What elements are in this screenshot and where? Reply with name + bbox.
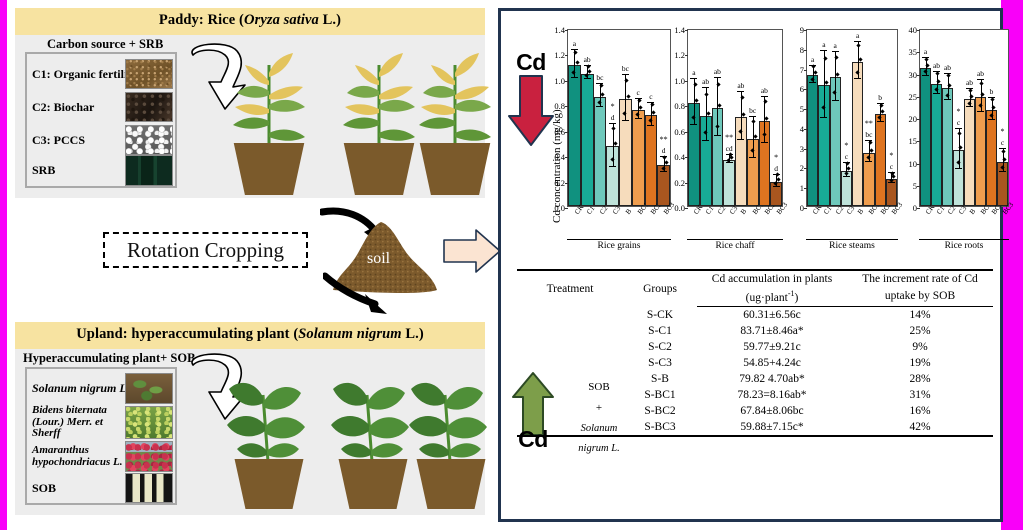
header-treatment: Treatment xyxy=(517,270,623,306)
replicate-point xyxy=(945,93,949,97)
bar-B[interactable]: bcB xyxy=(619,99,632,206)
replicate-point xyxy=(705,92,709,96)
source-row-c3[interactable]: C3: PCCS xyxy=(27,125,175,155)
replicate-point xyxy=(958,131,962,135)
results-panel: Cd Cd SOB + Solanum nigrum L. Cd concent… xyxy=(498,8,1003,522)
error-cap-upper xyxy=(622,74,629,75)
bar-C2[interactable]: aC2 xyxy=(830,77,841,206)
sob-thumb xyxy=(125,473,173,503)
header-increment-line1: The increment rate of Cd xyxy=(847,270,993,287)
bar-BC1[interactable]: abBC1 xyxy=(975,97,986,206)
significance-letter: c xyxy=(957,118,960,127)
bar-BC3[interactable]: d*BC3 xyxy=(770,182,782,206)
significance-letter: bc xyxy=(749,106,756,115)
cell-group: S-C3 xyxy=(623,355,697,371)
replicate-point xyxy=(821,105,825,109)
significance-letter: c xyxy=(1001,138,1004,147)
source-label-bidens: Bidens biternata (Lour.) Merr. et Sherff xyxy=(27,405,132,440)
error-cap-lower xyxy=(761,142,768,143)
replicate-point xyxy=(612,126,616,130)
header-groups: Groups xyxy=(623,270,697,306)
cell-group: S-C1 xyxy=(623,323,697,339)
error-cap-lower xyxy=(955,168,962,169)
pccs-thumb xyxy=(125,125,173,155)
bar-C2[interactable]: abC2 xyxy=(942,88,953,206)
bar-charts-area: Cd concentration (mg/kg) 0.00.20.40.60.8… xyxy=(501,11,1000,259)
source-label-sob: SOB xyxy=(27,482,56,495)
rotation-cropping-box: Rotation Cropping xyxy=(103,232,308,268)
replicate-point xyxy=(1000,165,1004,169)
error-cap-lower xyxy=(999,171,1006,172)
srb-thumb xyxy=(125,155,173,186)
left-column: Paddy: Rice (Oryza sativa L.) Carbon sou… xyxy=(7,0,495,530)
x-tick-label: B xyxy=(624,207,633,216)
bar-BC3[interactable]: c*BC3 xyxy=(886,179,897,206)
carbon-source-box: C1: Organic fertilizer C2: Biochar C3: P… xyxy=(25,52,177,188)
solanum-plant-3 xyxy=(393,373,509,509)
replicate-point xyxy=(610,157,614,161)
upland-pot-3 xyxy=(409,459,493,509)
replicate-point xyxy=(836,73,840,77)
cell-increment: 9% xyxy=(847,339,993,355)
cell-group: S-BC3 xyxy=(623,419,697,436)
y-tick-label: 0.2 xyxy=(674,178,685,188)
bar-BC2[interactable]: abBC2 xyxy=(759,121,771,206)
cell-increment: 31% xyxy=(847,387,993,403)
y-tick-label: 1.2 xyxy=(554,50,565,60)
y-tick-label: 40 xyxy=(909,25,918,35)
table-header-row: Treatment Groups Cd accumulation in plan… xyxy=(517,270,993,287)
x-tick-label: C1 xyxy=(935,205,946,216)
significance-star: ** xyxy=(660,135,668,144)
significance-letter: ab xyxy=(966,78,973,87)
significance-letter: a xyxy=(822,40,825,49)
error-cap-lower xyxy=(809,82,816,83)
cell-increment: 28% xyxy=(847,371,993,387)
rice-plant-1 xyxy=(211,51,327,195)
y-tick-label: 1.0 xyxy=(554,76,565,86)
cell-accumulation: 60.31±6.56c xyxy=(697,306,847,323)
replicate-point xyxy=(651,110,655,114)
replicate-point xyxy=(765,116,769,120)
bar-BC2[interactable]: bBC2 xyxy=(875,114,886,206)
error-cap-upper xyxy=(977,79,984,80)
replicate-point xyxy=(858,57,862,61)
error-cap-upper xyxy=(832,51,839,52)
significance-letter: ab xyxy=(944,63,951,72)
results-table-wrap: Treatment Groups Cd accumulation in plan… xyxy=(517,269,993,437)
source-label-c2: C2: Biochar xyxy=(27,101,94,114)
replicate-point xyxy=(923,70,927,74)
source-label-solanum: Solanum nigrum L. xyxy=(27,382,130,395)
error-cap-lower xyxy=(702,140,709,141)
y-tick-label: 0.6 xyxy=(674,127,685,137)
y-tick-label: 0.6 xyxy=(554,127,565,137)
replicate-point xyxy=(981,92,985,96)
error-cap-lower xyxy=(854,78,861,79)
replicate-point xyxy=(857,43,861,47)
replicate-point xyxy=(934,87,938,91)
replicate-point xyxy=(636,113,640,117)
replicate-point xyxy=(937,79,941,83)
significance-letter: c xyxy=(649,92,652,101)
cell-group: S-B xyxy=(623,371,697,387)
significance-letter: d xyxy=(611,113,615,122)
replicate-point xyxy=(866,156,870,160)
bar-BC3[interactable]: d**BC3 xyxy=(657,165,670,206)
error-cap-lower xyxy=(944,99,951,100)
replicate-point xyxy=(718,103,722,107)
rotation-cropping-label: Rotation Cropping xyxy=(127,238,284,263)
significance-star: * xyxy=(1001,127,1005,136)
replicate-point xyxy=(575,60,579,64)
y-tick-label: 0.0 xyxy=(674,203,685,213)
y-tick-label: 1.4 xyxy=(554,25,565,35)
significance-letter: c xyxy=(636,88,639,97)
error-cap-upper xyxy=(702,87,709,88)
cd-accumulation-table: Treatment Groups Cd accumulation in plan… xyxy=(517,269,993,437)
error-cap-lower xyxy=(622,120,629,121)
bar-CK[interactable]: aCK xyxy=(807,75,818,206)
error-cap-upper xyxy=(690,78,697,79)
significance-letter: a xyxy=(692,68,695,77)
cell-accumulation: 59.77±9.21c xyxy=(697,339,847,355)
replicate-point xyxy=(813,71,817,75)
error-cap-lower xyxy=(609,166,616,167)
y-tick-label: 15 xyxy=(909,136,918,146)
source-row-solanum[interactable]: Solanum nigrum L. xyxy=(27,373,175,404)
error-cap-lower xyxy=(596,106,603,107)
cell-accumulation: 59.88±7.15c* xyxy=(697,419,847,436)
bar-B[interactable]: aB xyxy=(852,62,863,206)
significance-letter: bc xyxy=(596,73,603,82)
replicate-point xyxy=(970,95,974,99)
table-row: S-CK60.31±6.56c14% xyxy=(517,306,993,323)
cell-group: S-BC2 xyxy=(623,403,697,419)
replicate-point xyxy=(978,104,982,108)
bar-BC2[interactable]: cBC2 xyxy=(645,115,658,206)
x-axis-group-rule xyxy=(806,239,898,240)
x-tick-label: C1 xyxy=(704,205,715,216)
replicate-point xyxy=(967,101,971,105)
soil-out-arrow-icon xyxy=(323,272,393,318)
bar-C3[interactable]: c*C3 xyxy=(841,171,852,206)
replicate-point xyxy=(750,149,754,153)
replicate-point xyxy=(600,92,604,96)
error-cap-upper xyxy=(749,116,756,117)
significance-letter: a xyxy=(573,39,576,48)
upland-title-species: Solanum nigrum xyxy=(298,326,401,342)
header-accumulation-line2: (ug·plant-1) xyxy=(697,287,847,306)
bar-C2[interactable]: bcC2 xyxy=(594,97,607,206)
upland-title-plain: Upland: hyperaccumulating plant ( xyxy=(76,326,298,342)
replicate-point xyxy=(777,177,781,181)
x-axis-group-label: Rice grains xyxy=(567,241,671,251)
y-tick-mark xyxy=(917,208,920,209)
error-cap-lower xyxy=(726,162,733,163)
cell-accumulation: 78.23=8.16ab* xyxy=(697,387,847,403)
source-row-srb[interactable]: SRB xyxy=(27,155,175,186)
graphical-abstract: Paddy: Rice (Oryza sativa L.) Carbon sou… xyxy=(0,0,1023,530)
bar-BC3[interactable]: c*BC3 xyxy=(997,162,1008,207)
transfer-block-arrow-icon xyxy=(442,228,502,274)
error-cap-lower xyxy=(877,121,884,122)
x-tick-label: C1 xyxy=(822,205,833,216)
upland-pot-1 xyxy=(227,459,311,509)
replicate-point xyxy=(637,98,641,102)
replicate-point xyxy=(703,130,707,134)
bars-container: aCKaC1aC2c*C3aBbc**BC1bBC2c*BC3 xyxy=(807,30,897,206)
cell-group: S-C2 xyxy=(623,339,697,355)
x-tick-label: C3 xyxy=(845,205,856,216)
bar-CK[interactable]: aCK xyxy=(568,65,581,206)
cell-accumulation: 79.82 4.70ab* xyxy=(697,371,847,387)
replicate-point xyxy=(623,111,627,115)
y-tick-label: 1.2 xyxy=(674,50,685,60)
plot-area: 0.00.20.40.60.81.01.21.4aCKabC1abC2cd**C… xyxy=(687,29,783,207)
replicate-point xyxy=(624,78,628,82)
bar-C1[interactable]: abC1 xyxy=(700,116,712,206)
accum-unit-text: (ug·plant xyxy=(746,292,788,304)
significance-letter: c xyxy=(890,162,893,171)
replicate-point xyxy=(613,142,617,146)
replicate-point xyxy=(694,98,698,102)
significance-letter: cd xyxy=(726,144,733,153)
replicate-point xyxy=(989,114,993,118)
significance-letter: ab xyxy=(977,69,984,78)
replicate-point xyxy=(855,71,859,75)
significance-letter: bc xyxy=(865,130,872,139)
bar-C2[interactable]: abC2 xyxy=(712,108,724,206)
y-tick-label: 0.4 xyxy=(554,152,565,162)
source-row-amaranthus[interactable]: Amaranthus hypochondriacus L. xyxy=(27,441,175,472)
significance-star: ** xyxy=(865,119,873,128)
error-cap-lower xyxy=(714,135,721,136)
y-tick-label: 30 xyxy=(909,70,918,80)
upland-title-tail: L.) xyxy=(402,326,424,342)
y-tick-label: 35 xyxy=(909,47,918,57)
pot-3 xyxy=(412,143,498,195)
cell-increment: 42% xyxy=(847,419,993,436)
replicate-point xyxy=(980,81,984,85)
significance-letter: b xyxy=(990,87,994,96)
source-label-amaranthus: Amaranthus hypochondriacus L. xyxy=(27,445,132,468)
plot-area: 0510152025303540aCKabC1abC2c*C3abBabBC1b… xyxy=(919,29,1009,207)
x-tick-label: BC3 xyxy=(775,201,789,216)
cell-accumulation: 67.84±8.06bc xyxy=(697,403,847,419)
y-tick-label: 25 xyxy=(909,92,918,102)
error-cap-lower xyxy=(773,186,780,187)
replicate-point xyxy=(956,160,960,164)
paddy-photo-panel: Carbon source + SRB C1: Organic fertiliz… xyxy=(15,35,485,198)
x-axis-group-rule xyxy=(687,239,783,240)
bar-BC2[interactable]: bBC2 xyxy=(986,110,997,206)
significance-letter: ab xyxy=(702,77,709,86)
error-cap-lower xyxy=(820,117,827,118)
replicate-point xyxy=(824,81,828,85)
x-axis-group-rule xyxy=(567,239,671,240)
bar-BC1[interactable]: bc**BC1 xyxy=(863,153,874,206)
x-tick-label: C2 xyxy=(598,205,609,216)
paddy-title-tail: L.) xyxy=(319,12,341,28)
significance-letter: ab xyxy=(761,86,768,95)
cell-increment: 19% xyxy=(847,355,993,371)
accum-unit-tail: ) xyxy=(794,292,798,304)
replicate-point xyxy=(597,100,601,104)
x-tick-label: C3 xyxy=(611,205,622,216)
treatment-cell xyxy=(517,306,623,436)
source-row-sob[interactable]: SOB xyxy=(27,473,175,503)
bar-CK[interactable]: aCK xyxy=(920,68,931,206)
amaranthus-thumb xyxy=(125,441,173,472)
significance-star: ** xyxy=(725,133,733,142)
replicate-point xyxy=(834,55,838,59)
organic-fertilizer-thumb xyxy=(125,59,173,89)
pot-1 xyxy=(226,143,312,195)
cell-group: S-BC1 xyxy=(623,387,697,403)
replicate-point xyxy=(959,146,963,150)
error-cap-lower xyxy=(571,77,578,78)
y-tick-label: 0.8 xyxy=(554,101,565,111)
significance-letter: ab xyxy=(714,67,721,76)
source-row-bidens[interactable]: Bidens biternata (Lour.) Merr. et Sherff xyxy=(27,406,175,439)
y-tick-label: 0.0 xyxy=(554,203,565,213)
replicate-point xyxy=(948,83,952,87)
cell-accumulation: 54.85+4.24c xyxy=(697,355,847,371)
bar-C3[interactable]: d*C3 xyxy=(606,146,619,206)
replicate-point xyxy=(847,167,851,171)
bar-B[interactable]: abB xyxy=(735,117,747,206)
y-tick-mark xyxy=(685,208,688,209)
source-label-srb: SRB xyxy=(27,164,55,177)
y-tick-mark xyxy=(565,208,568,209)
y-tick-label: 0.2 xyxy=(554,178,565,188)
source-label-c3: C3: PCCS xyxy=(27,134,85,147)
significance-letter: d xyxy=(662,146,666,155)
y-tick-label: 10 xyxy=(909,159,918,169)
replicate-point xyxy=(572,70,576,74)
bar-BC1[interactable]: cBC1 xyxy=(632,110,645,206)
error-cap-lower xyxy=(635,118,642,119)
replicate-point xyxy=(715,125,719,129)
error-cap-lower xyxy=(749,157,756,158)
replicate-point xyxy=(661,166,665,170)
paddy-title-plain: Paddy: Rice ( xyxy=(159,12,244,28)
paddy-title-species: Oryza sativa xyxy=(244,12,319,28)
error-cap-upper xyxy=(955,128,962,129)
error-cap-lower xyxy=(865,161,872,162)
significance-letter: ab xyxy=(737,81,744,90)
error-cap-lower xyxy=(584,78,591,79)
replicate-point xyxy=(573,50,577,54)
error-cap-upper xyxy=(714,77,721,78)
replicate-point xyxy=(992,106,996,110)
replicate-point xyxy=(753,134,757,138)
bar-BC1[interactable]: bcBC1 xyxy=(747,139,759,206)
significance-star: * xyxy=(611,102,615,111)
bar-C1[interactable]: abC1 xyxy=(581,74,594,206)
bars-container: aCKabC1abC2c*C3abBabBC1bBC2c*BC3 xyxy=(920,30,1008,206)
significance-star: * xyxy=(889,151,893,160)
source-row-c2[interactable]: C2: Biochar xyxy=(27,92,175,122)
solanum-nigrum-thumb xyxy=(125,373,173,404)
upland-photo-panel: Hyperaccumulating plant+ SOB Solanum nig… xyxy=(15,349,485,515)
bar-C1[interactable]: abC1 xyxy=(931,84,942,206)
x-tick-label: C1 xyxy=(585,205,596,216)
replicate-point xyxy=(626,95,630,99)
error-cap-upper xyxy=(609,123,616,124)
significance-star: * xyxy=(957,107,961,116)
x-tick-label: BC3 xyxy=(890,201,904,216)
sob-stack-line-4: nigrum L. xyxy=(563,439,635,459)
x-tick-label: C3 xyxy=(728,205,739,216)
replicate-point xyxy=(639,105,643,109)
bar-CK[interactable]: aCK xyxy=(688,103,700,206)
bar-B[interactable]: abB xyxy=(964,99,975,206)
replicate-point xyxy=(691,115,695,119)
paddy-band-title: Paddy: Rice (Oryza sativa L.) xyxy=(15,8,485,35)
replicate-point xyxy=(740,95,744,99)
header-accumulation-line1: Cd accumulation in plants xyxy=(697,270,847,287)
error-cap-lower xyxy=(690,124,697,125)
error-cap-lower xyxy=(832,100,839,101)
replicate-point xyxy=(926,63,930,67)
header-increment-line2: uptake by SOB xyxy=(847,287,993,306)
replicate-point xyxy=(588,69,592,73)
soil-label: soil xyxy=(367,250,390,268)
replicate-point xyxy=(869,148,873,152)
x-tick-label: C3 xyxy=(957,205,968,216)
y-tick-label: 20 xyxy=(909,114,918,124)
x-tick-label: C2 xyxy=(834,205,845,216)
bar-C3[interactable]: cd**C3 xyxy=(723,160,735,206)
plot-area: 0.00.20.40.60.81.01.21.4aCKabC1bcC2d*C3b… xyxy=(567,29,671,207)
replicate-point xyxy=(833,91,837,95)
replicate-point xyxy=(1003,157,1007,161)
significance-letter: ab xyxy=(584,55,591,64)
bars-container: aCKabC1bcC2d*C3bcBcBC1cBC2d**BC3 xyxy=(568,30,670,206)
error-cap-lower xyxy=(922,75,929,76)
replicate-point xyxy=(1002,149,1006,153)
error-cap-lower xyxy=(977,111,984,112)
significance-letter: a xyxy=(924,47,927,56)
significance-letter: a xyxy=(856,31,859,40)
error-cap-lower xyxy=(647,125,654,126)
bidens-biternata-thumb xyxy=(125,406,173,439)
source-row-c1[interactable]: C1: Organic fertilizer xyxy=(27,59,175,89)
x-tick-label: B xyxy=(856,207,865,216)
significance-star: * xyxy=(844,141,848,150)
solanum-plant-1 xyxy=(211,373,327,509)
significance-letter: b xyxy=(878,93,882,102)
hyperaccumulator-box: Solanum nigrum L. Bidens biternata (Lour… xyxy=(25,367,177,505)
y-tick-label: 1.0 xyxy=(674,76,685,86)
error-cap-lower xyxy=(966,106,973,107)
bars-container: aCKabC1abC2cd**C3abBbcBC1abBC2d*BC3 xyxy=(688,30,782,206)
significance-letter: d xyxy=(774,164,778,173)
x-axis-group-label: Rice chaff xyxy=(687,241,783,251)
error-cap-lower xyxy=(843,176,850,177)
significance-letter: c xyxy=(845,152,848,161)
y-tick-label: 1.4 xyxy=(674,25,685,35)
x-axis-group-rule xyxy=(919,239,1009,240)
bar-C1[interactable]: aC1 xyxy=(818,85,829,206)
bar-C3[interactable]: c*C3 xyxy=(953,150,964,206)
replicate-point xyxy=(741,112,745,116)
x-tick-label: B xyxy=(968,207,977,216)
biochar-thumb xyxy=(125,92,173,122)
error-cap-lower xyxy=(737,139,744,140)
